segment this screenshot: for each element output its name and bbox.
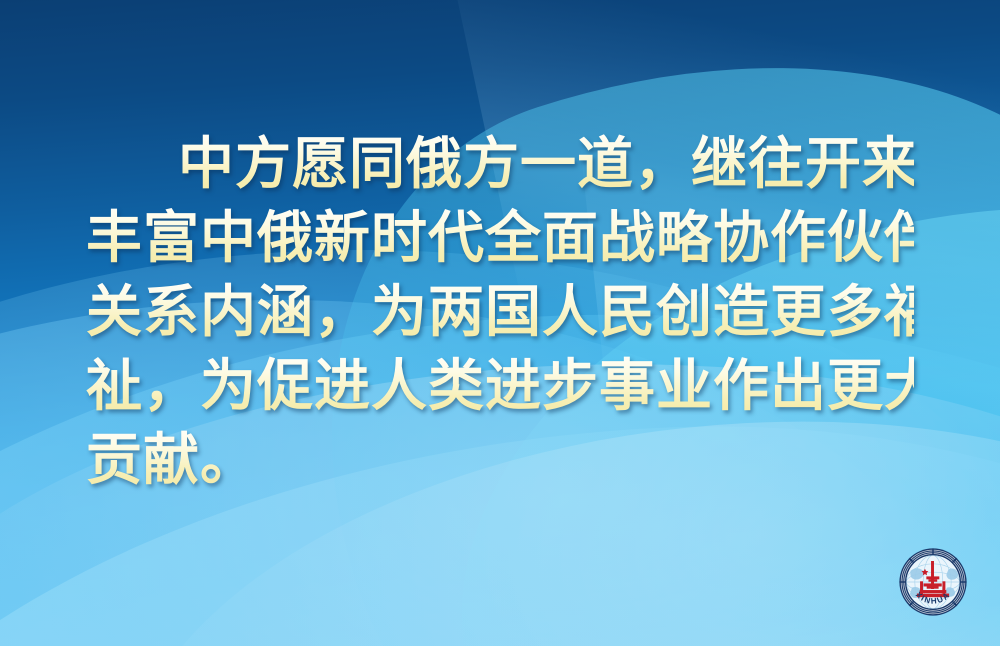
quote-block: 中方愿同俄方一道，继往开来， 丰富中俄新时代全面战略协作伙伴 关系内涵，为两国人…: [0, 128, 1000, 498]
quote-line-1: 中方愿同俄方一道，继往开来，: [86, 128, 914, 202]
quote-line-4: 祉，为促进人类进步事业作出更大: [86, 350, 914, 424]
quote-line-2: 丰富中俄新时代全面战略协作伙伴: [86, 202, 914, 276]
quote-line-3: 关系内涵，为两国人民创造更多福: [86, 276, 914, 350]
quote-poster: 中方愿同俄方一道，继往开来， 丰富中俄新时代全面战略协作伙伴 关系内涵，为两国人…: [0, 0, 1000, 646]
quote-line-5: 贡献。: [86, 424, 914, 498]
xinhua-logo: XINHUA: [898, 547, 968, 617]
